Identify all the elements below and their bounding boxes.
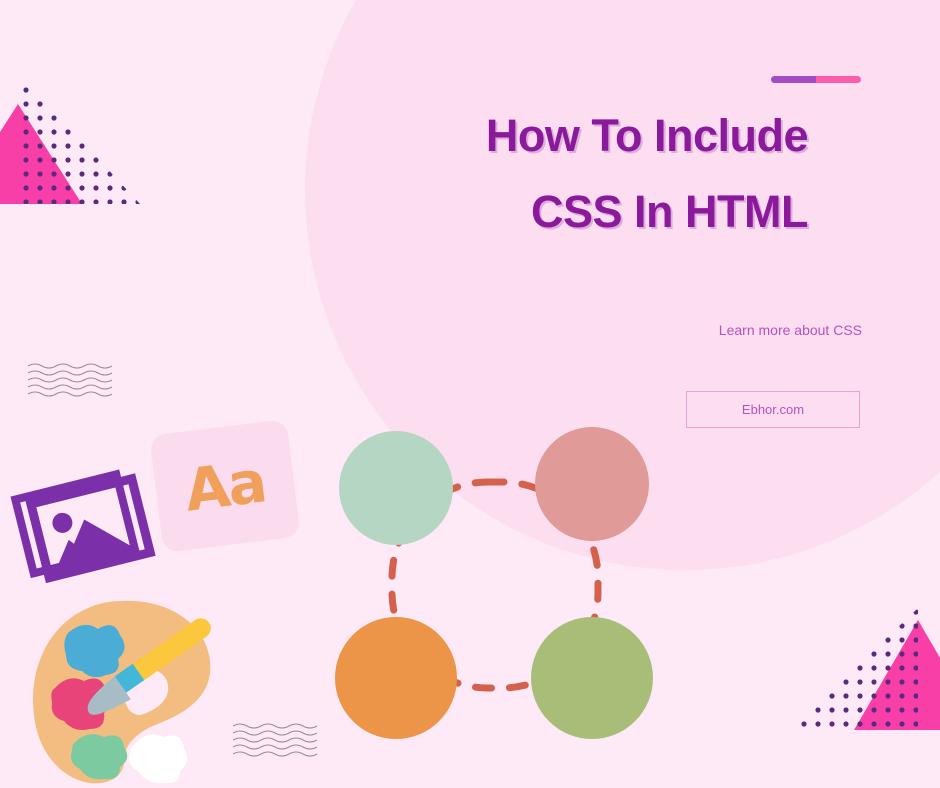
dot-pattern [0, 72, 140, 212]
decoration-waves-left [28, 362, 114, 398]
olive-circle [531, 617, 653, 739]
poster-canvas: Aa [0, 0, 940, 788]
decoration-triangle-top-left [0, 72, 140, 212]
accent-bar-purple-segment [771, 76, 816, 83]
mint-circle [339, 431, 453, 545]
decoration-waves-bottom [233, 722, 319, 758]
accent-bar [771, 76, 861, 83]
accent-bar-pink-segment [816, 76, 861, 83]
paint-blob-white [129, 734, 187, 783]
page-title-line-1: How To Include [380, 98, 808, 174]
page-title: How To Include CSS In HTML [380, 98, 808, 250]
ebhor-site-button[interactable]: Ebhor.com [686, 391, 860, 428]
salmon-circle [535, 427, 649, 541]
circle-cluster [330, 420, 660, 750]
orange-circle [335, 617, 457, 739]
learn-more-caption: Learn more about CSS [560, 322, 862, 338]
typography-card: Aa [149, 419, 300, 553]
image-icon [8, 462, 158, 592]
page-title-line-2: CSS In HTML [380, 174, 808, 250]
paint-palette-icon [28, 595, 243, 788]
aa-label: Aa [181, 447, 269, 524]
decoration-triangle-bottom-right [800, 608, 940, 738]
